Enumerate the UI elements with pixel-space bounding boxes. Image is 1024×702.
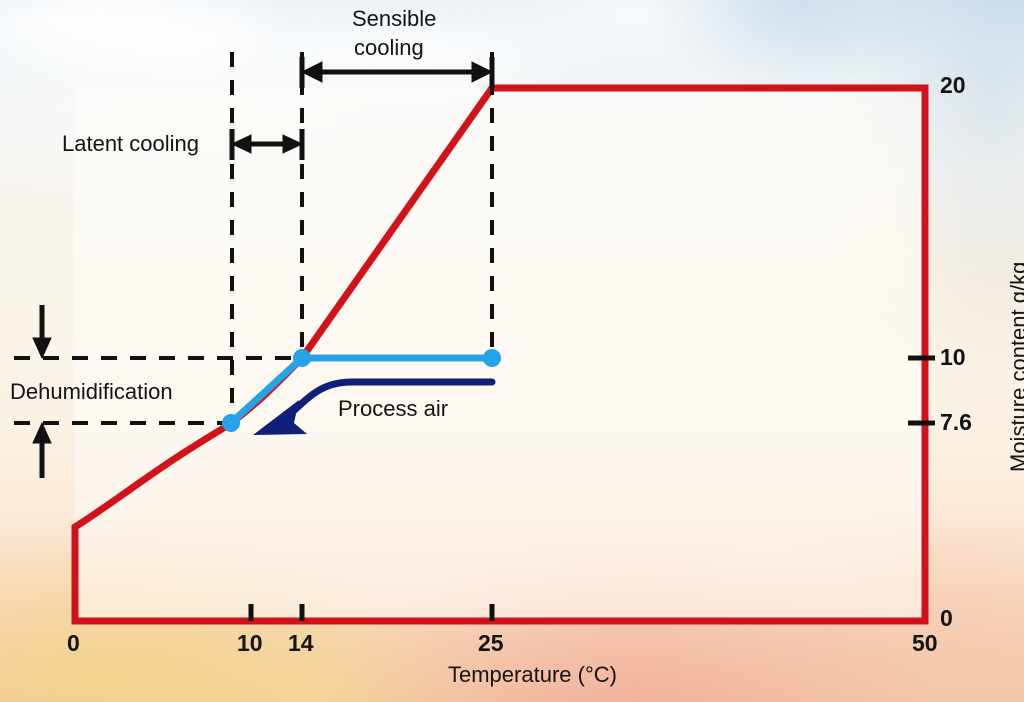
annotation-dehumidification: Dehumidification — [10, 379, 173, 405]
psychrometric-chart-figure: Sensible cooling Latent cooling Dehumidi… — [0, 0, 1024, 702]
y-tick-label-20: 20 — [940, 72, 966, 99]
x-tick-label-10: 10 — [237, 630, 263, 657]
x-tick-label-0: 0 — [67, 630, 80, 657]
annotation-latent-cooling: Latent cooling — [62, 131, 199, 157]
annotation-sensible-cooling-line1: Sensible — [352, 6, 436, 32]
y-tick-label-7p6: 7.6 — [940, 409, 972, 436]
chart-canvas — [0, 0, 1024, 702]
x-axis-title: Temperature (°C) — [448, 662, 617, 688]
latent-cooling-arrow — [232, 129, 302, 160]
process-point-inlet — [483, 349, 501, 367]
dehumid-down-arrow-head — [33, 338, 51, 358]
sensible-cooling-arrow — [302, 57, 492, 88]
x-tick-label-50: 50 — [912, 630, 938, 657]
process-point-dewpoint — [293, 349, 311, 367]
x-tick-label-14: 14 — [288, 630, 314, 657]
annotation-sensible-cooling-line2: cooling — [354, 35, 424, 61]
x-tick-label-25: 25 — [478, 630, 504, 657]
dehumid-up-arrow-head — [33, 423, 51, 443]
annotation-process-air: Process air — [338, 396, 448, 422]
y-tick-label-10: 10 — [940, 344, 966, 371]
y-axis-title: Moisture content g/kg — [1006, 262, 1024, 472]
y-tick-label-0: 0 — [940, 605, 953, 632]
process-point-outlet — [222, 414, 240, 432]
